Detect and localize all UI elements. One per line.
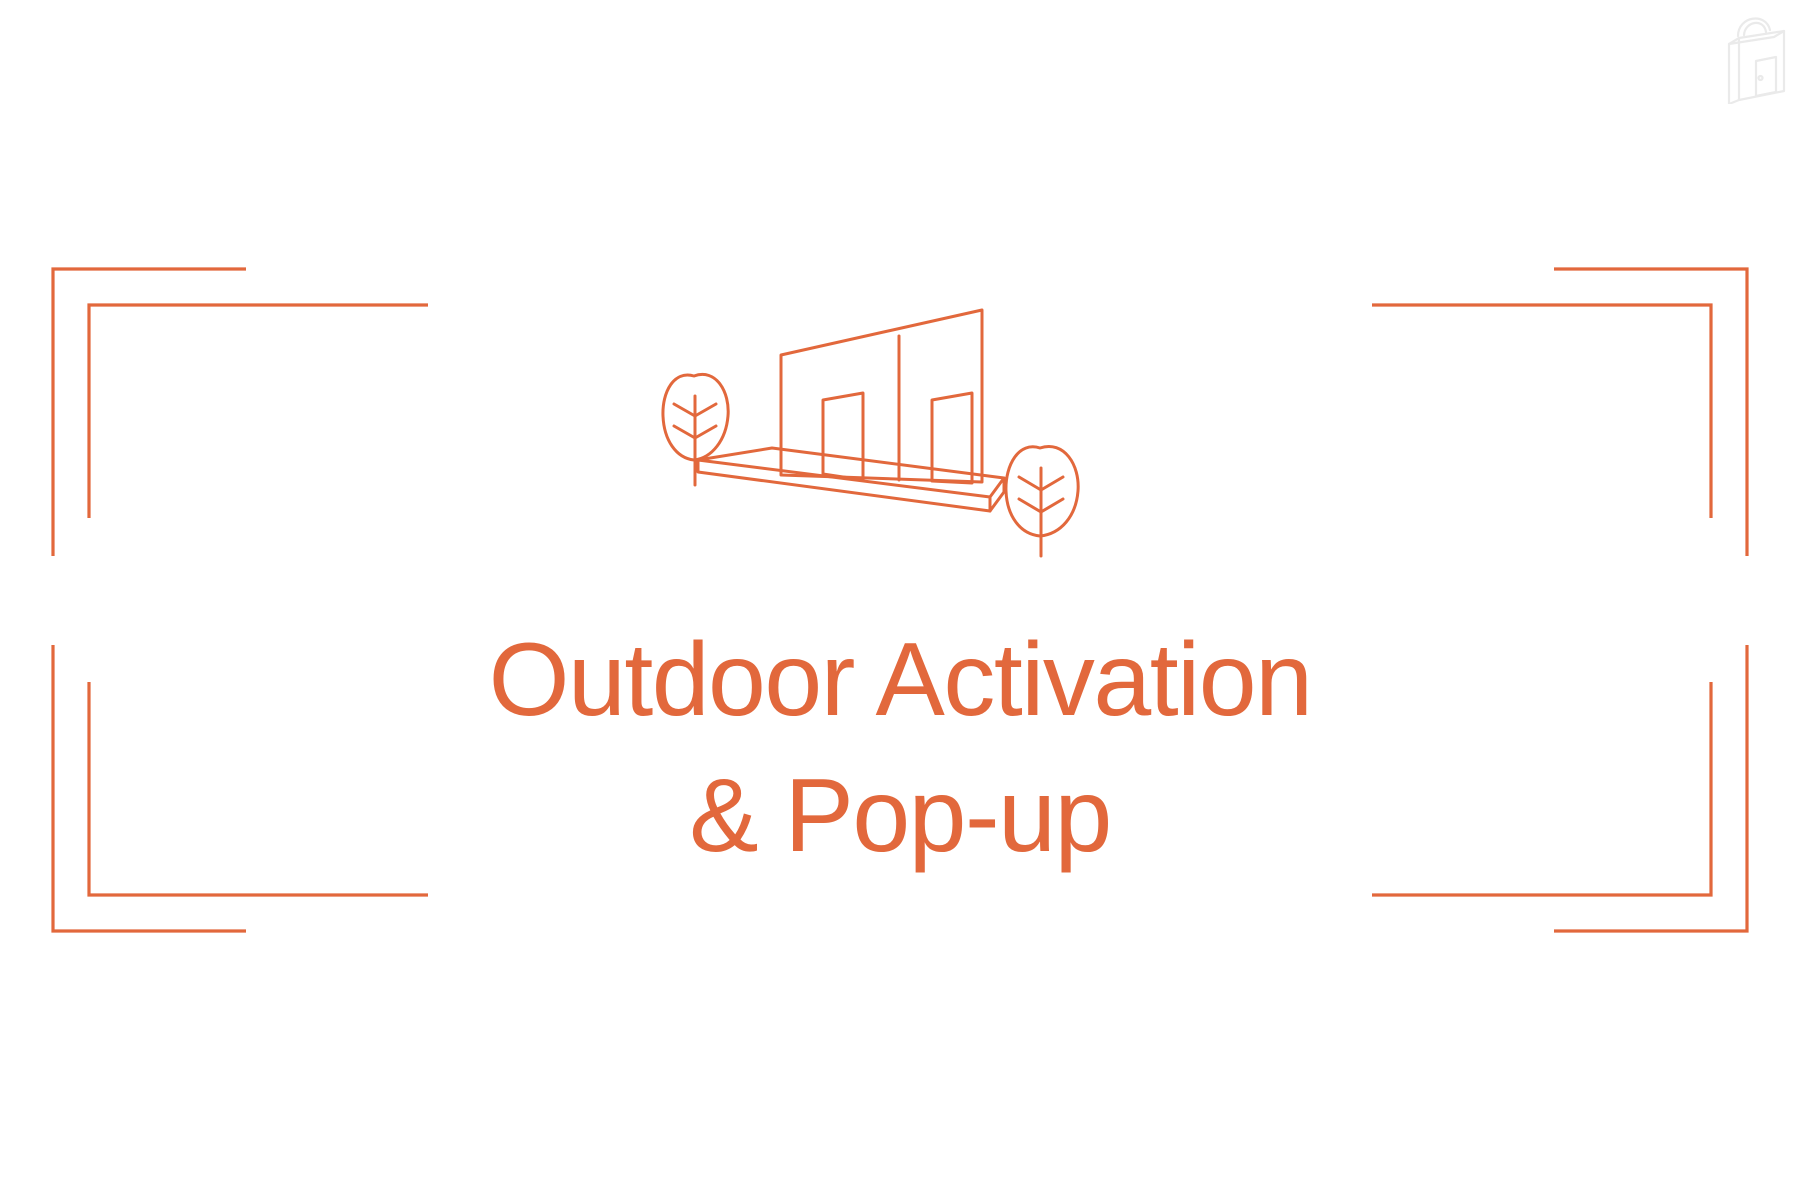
bracket-top-left-outer (53, 269, 246, 556)
right-tree-branch-lower-left (1019, 499, 1041, 512)
right-tree-branch-upper-right (1041, 477, 1063, 490)
right-tree-branch-lower-right (1041, 499, 1063, 512)
bag-handle-inner-path (1744, 23, 1766, 35)
left-tree-branch-upper-left (674, 404, 695, 416)
left-doorway-path (823, 393, 863, 480)
left-tree-branch-lower-left (674, 426, 695, 438)
bag-side-panel-path (1729, 38, 1739, 104)
bag-door-knob-icon (1759, 76, 1763, 80)
corner-bracket-frame (0, 0, 1800, 1200)
bag-top-rim-path (1729, 31, 1784, 44)
left-tree-branch-upper-right (695, 404, 716, 416)
page-title-line-2: & Pop-up (0, 748, 1800, 884)
bracket-top-left-inner (89, 305, 428, 518)
page-title: Outdoor Activation & Pop-up (0, 612, 1800, 884)
left-tree-icon (663, 374, 728, 485)
deck-front-edge-path (698, 460, 990, 511)
illustration-svg (660, 300, 1160, 560)
outdoor-pavilion-storefront-illustration (660, 300, 1160, 560)
right-tree-icon (1006, 446, 1078, 556)
deck-top-surface-path (698, 448, 1004, 497)
slide-canvas: Outdoor Activation & Pop-up (0, 0, 1800, 1200)
page-title-line-1: Outdoor Activation (0, 612, 1800, 748)
bracket-top-right-outer (1554, 269, 1747, 556)
bag-door-path (1756, 57, 1776, 96)
shopping-bag-storefront-logo-icon (1708, 8, 1792, 104)
bracket-top-right-inner (1372, 305, 1711, 518)
bag-handle-outer-path (1738, 19, 1770, 36)
left-tree-branch-lower-right (695, 426, 716, 438)
watermark-svg (1708, 8, 1792, 104)
frame-svg (0, 0, 1800, 1200)
bag-front-face-path (1739, 31, 1784, 100)
right-tree-branch-upper-left (1019, 477, 1041, 490)
